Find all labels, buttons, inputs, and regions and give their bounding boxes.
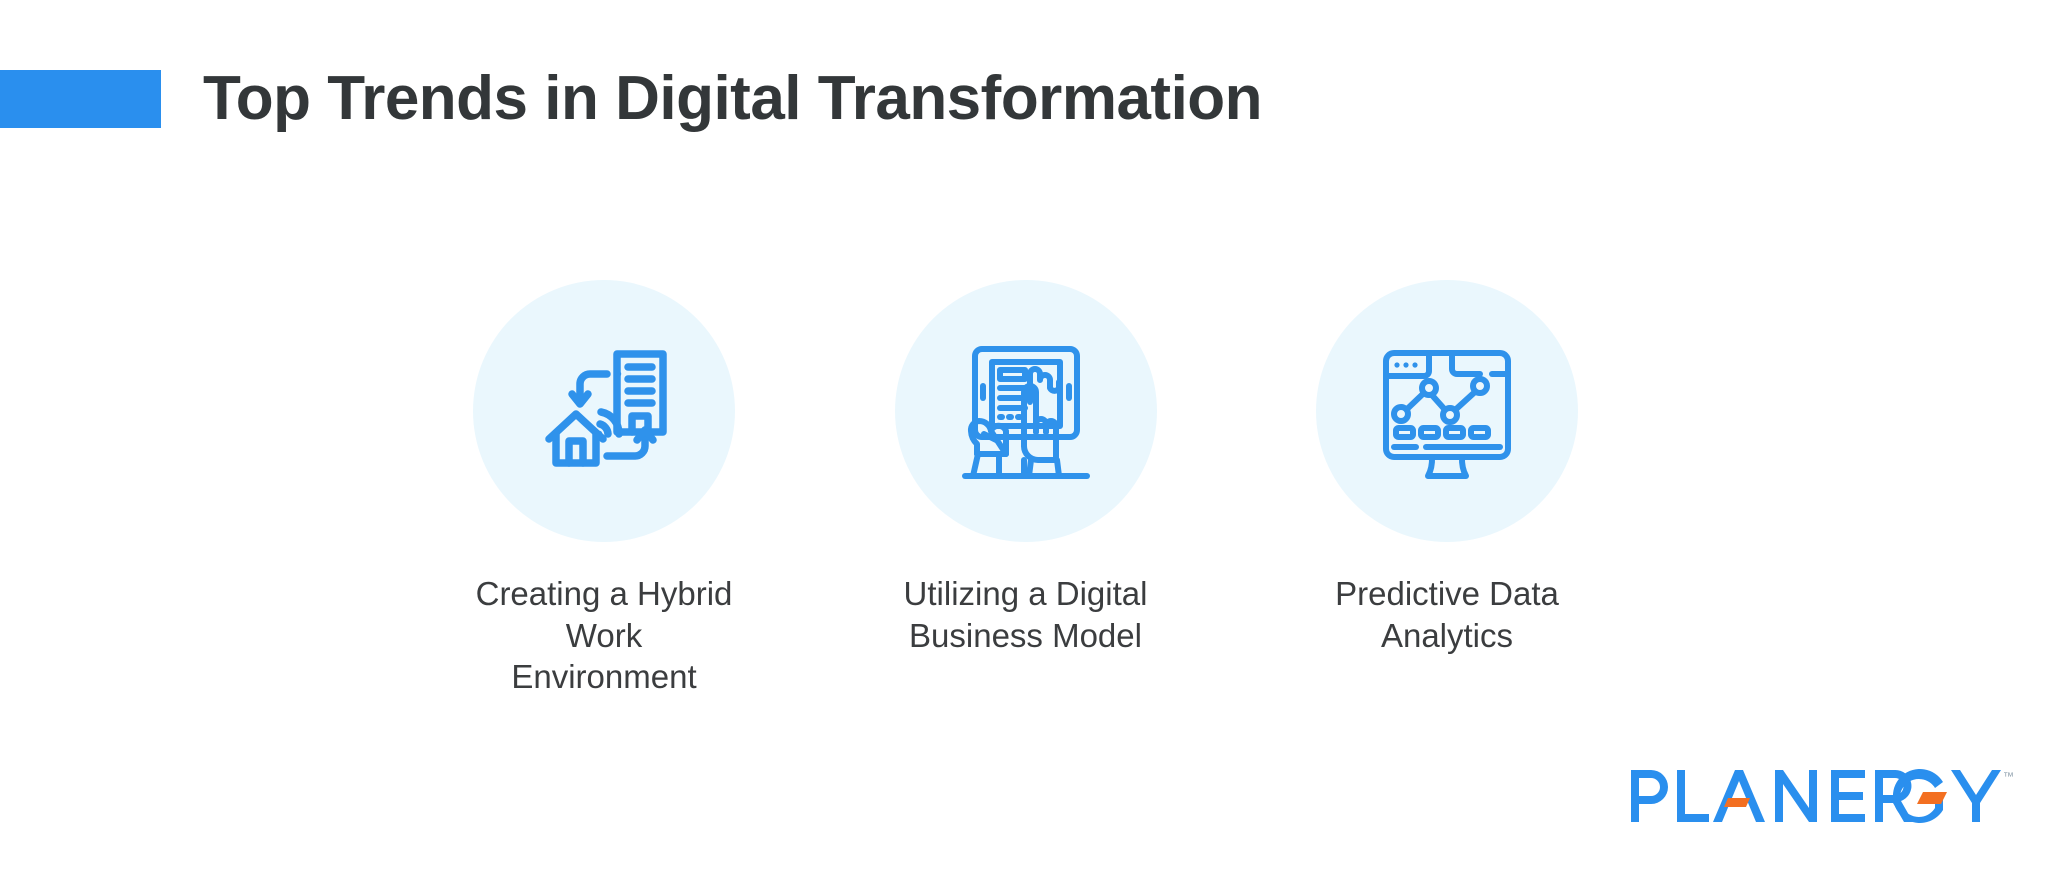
trend-card-label: Utilizing a Digital Business Model — [904, 573, 1148, 656]
trend-card: Predictive Data Analytics — [1316, 280, 1578, 656]
trend-card: Creating a Hybrid Work Environment — [473, 280, 735, 698]
planergy-y-svg: ™ — [1951, 766, 2023, 828]
slide-canvas: Top Trends in Digital Transformation — [0, 0, 2048, 893]
page-title: Top Trends in Digital Transformation — [203, 68, 1262, 130]
trend-card-label: Predictive Data Analytics — [1335, 573, 1559, 656]
hybrid-work-icon — [529, 336, 679, 486]
icon-circle — [895, 280, 1157, 542]
tablet-hands-icon — [951, 336, 1101, 486]
trademark-mark: ™ — [2003, 771, 2014, 783]
accent-bar — [0, 70, 161, 128]
monitor-analytics-icon — [1372, 336, 1522, 486]
icon-circle — [1316, 280, 1578, 542]
planergy-logo: ™ — [1631, 766, 2023, 828]
planergy-wordmark-svg — [1631, 766, 1951, 828]
icon-circle — [473, 280, 735, 542]
trend-card: Utilizing a Digital Business Model — [895, 280, 1157, 656]
slide-header: Top Trends in Digital Transformation — [0, 70, 1262, 128]
logo-accent-a — [1724, 798, 1750, 807]
trend-card-list: Creating a Hybrid Work Environment — [473, 280, 1578, 698]
trend-card-label: Creating a Hybrid Work Environment — [473, 573, 735, 698]
